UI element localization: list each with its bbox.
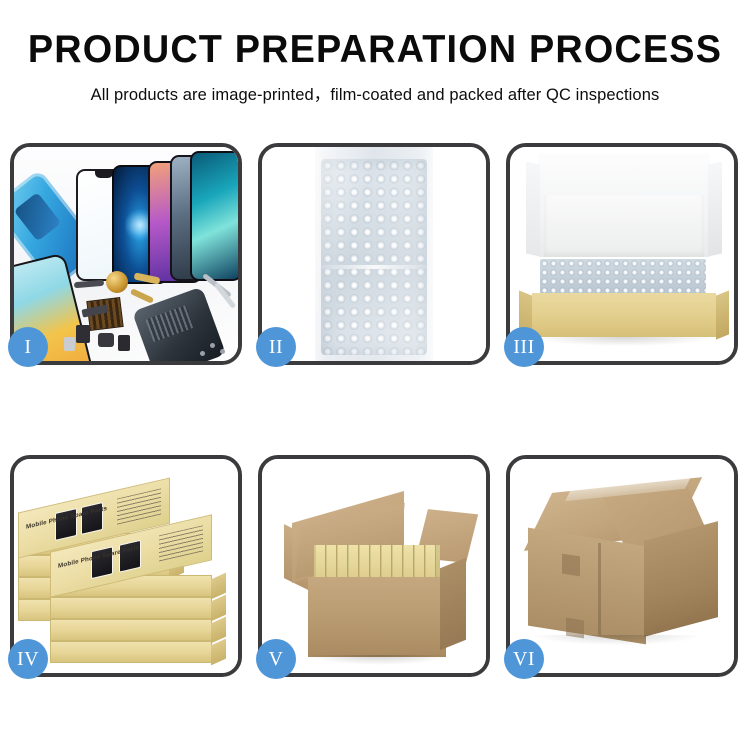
step-badge-1: I <box>8 327 48 367</box>
step-panel-1: I <box>10 143 242 365</box>
small-part-icon <box>118 335 130 351</box>
phone-display-teal-icon <box>190 151 238 281</box>
small-part-icon <box>64 337 75 351</box>
drop-shadow <box>534 635 700 645</box>
box-side <box>211 639 226 666</box>
step-panel-6: VI <box>506 455 738 677</box>
steps-grid: I II III <box>10 143 740 677</box>
step-image-4: Mobile Phone Spare Parts Mobile Phone Sp… <box>14 459 238 673</box>
bubble-wrap-sleeve <box>315 147 433 361</box>
drop-shadow <box>306 655 452 665</box>
step-panel-5: V <box>258 455 490 677</box>
step-panel-4: Mobile Phone Spare Parts Mobile Phone Sp… <box>10 455 242 677</box>
step-panel-3: III <box>506 143 738 365</box>
stacked-box <box>50 641 212 663</box>
step-image-2 <box>262 147 486 361</box>
step-image-1 <box>14 147 238 361</box>
stacked-box <box>50 619 212 641</box>
bubble-wrapped-product <box>540 259 706 295</box>
plastic-sheen <box>315 147 433 361</box>
page-subtitle: All products are image-printed，film-coat… <box>0 81 750 105</box>
product-preparation-infographic: PRODUCT PREPARATION PROCESS All products… <box>0 0 750 750</box>
drop-shadow <box>536 337 712 346</box>
flex-cable-icon <box>130 288 154 304</box>
step-image-6 <box>510 459 734 673</box>
kraft-box-base <box>532 293 716 337</box>
flex-cable-icon <box>74 280 104 289</box>
step-badge-4: IV <box>8 639 48 679</box>
step-image-5 <box>262 459 486 673</box>
page-title: PRODUCT PREPARATION PROCESS <box>11 30 739 71</box>
box-stack: Mobile Phone Spare Parts Mobile Phone Sp… <box>14 459 238 673</box>
step-badge-2: II <box>256 327 296 367</box>
step-badge-5: V <box>256 639 296 679</box>
step-badge-6: VI <box>504 639 544 679</box>
stacked-box <box>50 597 212 619</box>
box-artwork-text-lines <box>159 525 203 561</box>
step-panel-2: II <box>258 143 490 365</box>
step-badge-3: III <box>504 327 544 367</box>
carton-front-face <box>308 577 446 657</box>
screw-icon <box>220 349 225 354</box>
carton-side-face <box>440 558 466 651</box>
carton-edge-seam <box>598 543 601 635</box>
screw-icon <box>210 343 215 348</box>
carton-front-face <box>528 528 646 645</box>
foam-padding <box>544 195 704 257</box>
step-image-3 <box>510 147 734 361</box>
carton-side-face <box>644 521 718 637</box>
screwdriver-icon <box>214 282 236 309</box>
vibration-motor-icon <box>106 271 128 293</box>
carton-tab <box>562 554 580 577</box>
small-part-icon <box>76 325 90 343</box>
screw-icon <box>200 351 205 356</box>
small-part-icon <box>98 333 114 347</box>
header: PRODUCT PREPARATION PROCESS All products… <box>0 0 750 105</box>
box-artwork-text-lines <box>117 489 161 525</box>
